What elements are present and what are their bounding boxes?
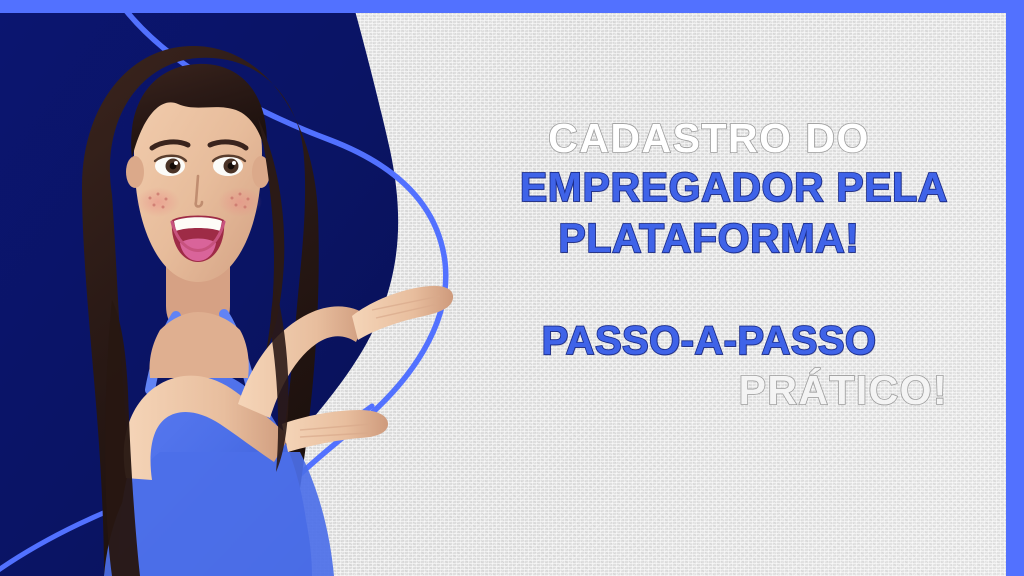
- headline-line-2: EMPREGADOR PELA: [470, 167, 948, 208]
- navy-curved-shape: [0, 0, 398, 576]
- subhead-line-2: PRÁTICO!: [470, 370, 948, 411]
- headline-line-1: CADASTRO DO: [470, 118, 948, 159]
- slide-canvas: CADASTRO DO EMPREGADOR PELA PLATAFORMA! …: [0, 0, 1024, 576]
- headline-block: CADASTRO DO EMPREGADOR PELA PLATAFORMA! …: [470, 118, 948, 411]
- frame-top-bar: [0, 0, 1024, 13]
- subhead-line-1: PASSO-A-PASSO: [470, 321, 948, 361]
- headline-gap: [470, 259, 948, 321]
- headline-line-3: PLATAFORMA!: [470, 218, 948, 259]
- frame-right-bar: [1006, 0, 1024, 576]
